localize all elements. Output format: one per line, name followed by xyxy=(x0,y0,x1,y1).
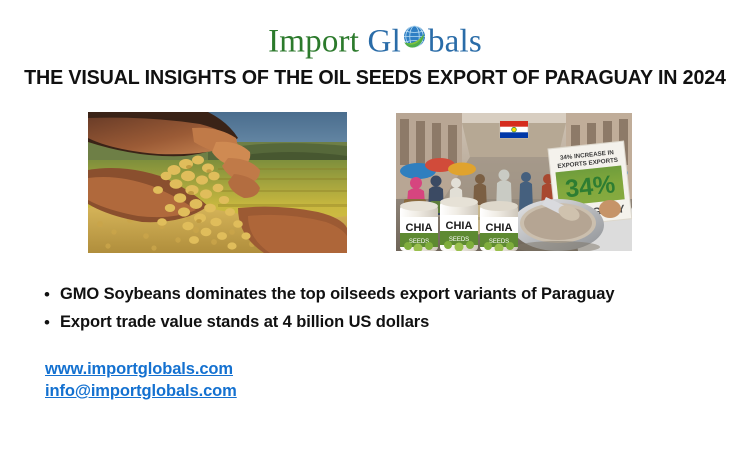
website-link[interactable]: www.importglobals.com xyxy=(45,358,237,380)
key-insights-list: • GMO Soybeans dominates the top oilseed… xyxy=(40,283,730,339)
svg-text:CHIA: CHIA xyxy=(486,222,513,234)
bullet-marker: • xyxy=(40,283,60,306)
chia-tub-3: CHIA SEEDS xyxy=(480,201,518,251)
photo-paraguay-market: 34% INCREASE IN EXPORTS EXPORTS 34% PARA… xyxy=(396,113,632,251)
list-item: • Export trade value stands at 4 billion… xyxy=(40,311,730,334)
list-item-label: Export trade value stands at 4 billion U… xyxy=(60,311,429,334)
bullet-marker: • xyxy=(40,311,60,334)
contact-block: www.importglobals.com info@importglobals… xyxy=(45,358,237,402)
chia-tub-1: CHIA SEEDS xyxy=(400,201,438,251)
page-title: THE VISUAL INSIGHTS OF THE OIL SEEDS EXP… xyxy=(15,66,735,90)
brand-logo[interactable]: Import Gl bals xyxy=(0,22,750,60)
list-item-label: GMO Soybeans dominates the top oilseeds … xyxy=(60,283,614,306)
svg-text:CHIA: CHIA xyxy=(446,220,473,232)
sign-percentage: 34% xyxy=(564,170,617,203)
chia-tub-2: CHIA SEEDS xyxy=(440,197,478,251)
photo-soybeans-in-hands xyxy=(88,112,347,253)
logo-text-gl: Gl xyxy=(368,23,401,59)
globe-icon xyxy=(400,22,429,51)
svg-text:CHIA: CHIA xyxy=(406,222,433,234)
logo-text-import: Import xyxy=(268,23,359,59)
email-link[interactable]: info@importglobals.com xyxy=(45,380,237,402)
svg-text:SEEDS: SEEDS xyxy=(449,237,469,243)
list-item: • GMO Soybeans dominates the top oilseed… xyxy=(40,283,730,306)
logo-text-bals: bals xyxy=(428,23,482,59)
